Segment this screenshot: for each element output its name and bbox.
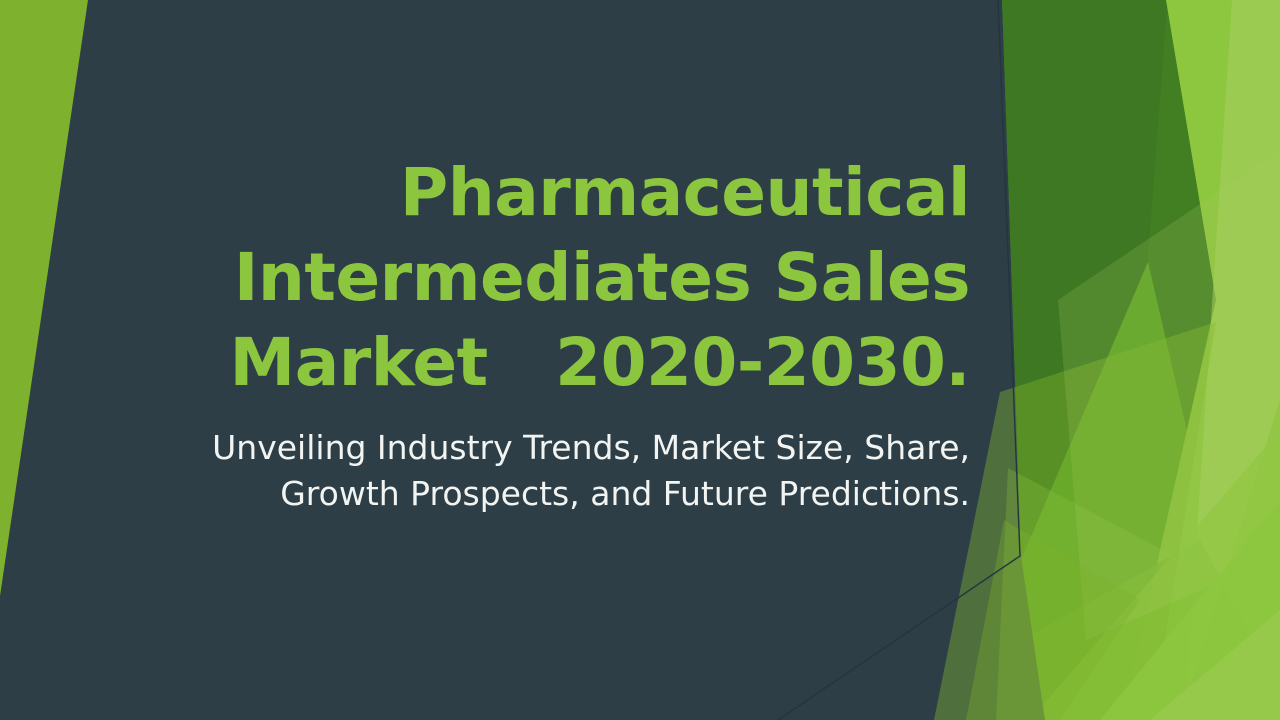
slide-content: Pharmaceutical Intermediates Sales Marke… xyxy=(0,0,1280,720)
title-placeholder: Pharmaceutical Intermediates Sales Marke… xyxy=(170,150,970,405)
slide-subtitle: Unveiling Industry Trends, Market Size, … xyxy=(150,425,970,516)
page-title: Pharmaceutical Intermediates Sales Marke… xyxy=(170,150,970,405)
subtitle-placeholder: Unveiling Industry Trends, Market Size, … xyxy=(150,425,970,516)
presentation-slide: Pharmaceutical Intermediates Sales Marke… xyxy=(0,0,1280,720)
